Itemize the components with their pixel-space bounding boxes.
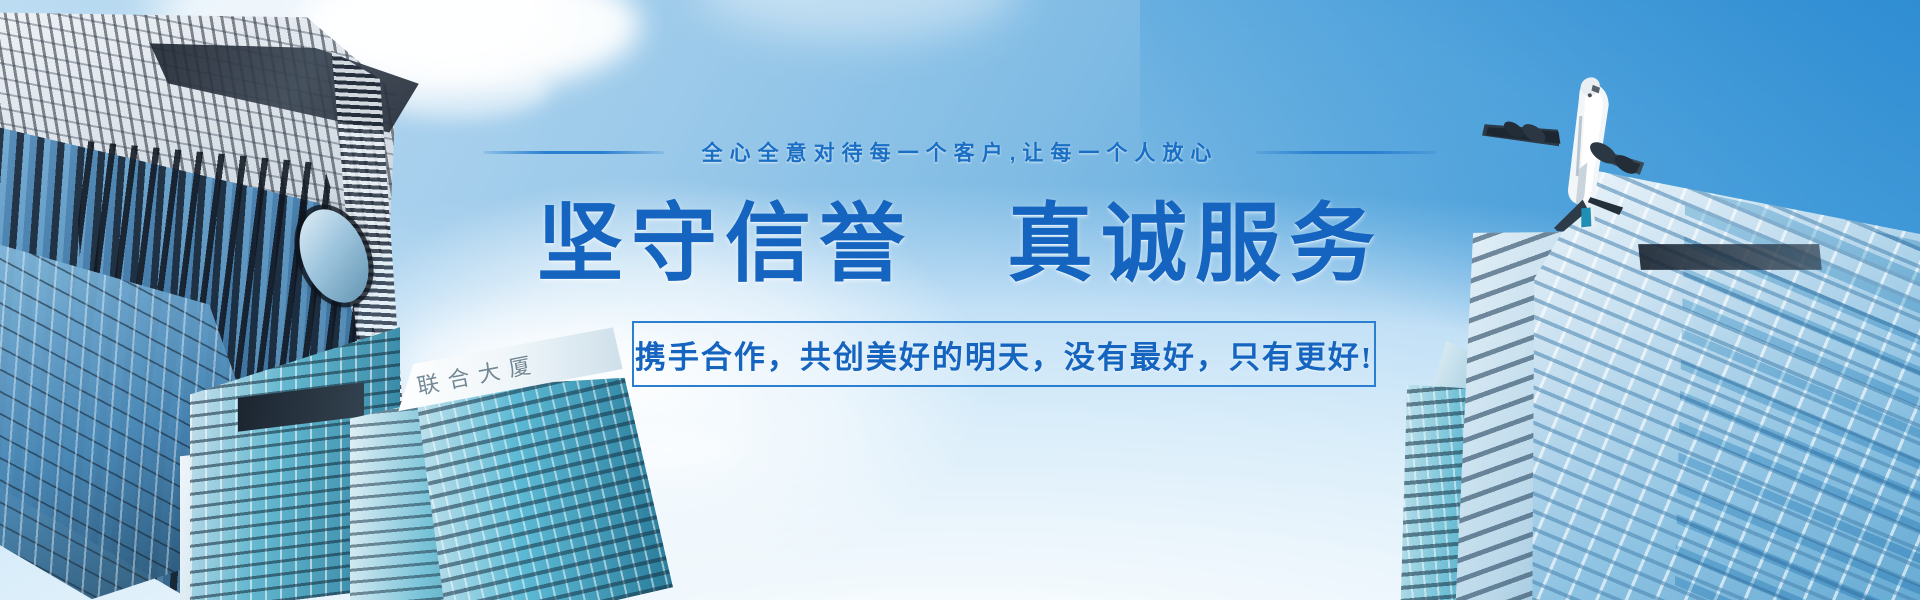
right-tower-dark-cap [1638,244,1822,270]
signage-tower: 联合大厦 [388,320,683,600]
hero-banner: 联合大厦 [0,0,1920,600]
airplane-icon [1472,56,1673,239]
